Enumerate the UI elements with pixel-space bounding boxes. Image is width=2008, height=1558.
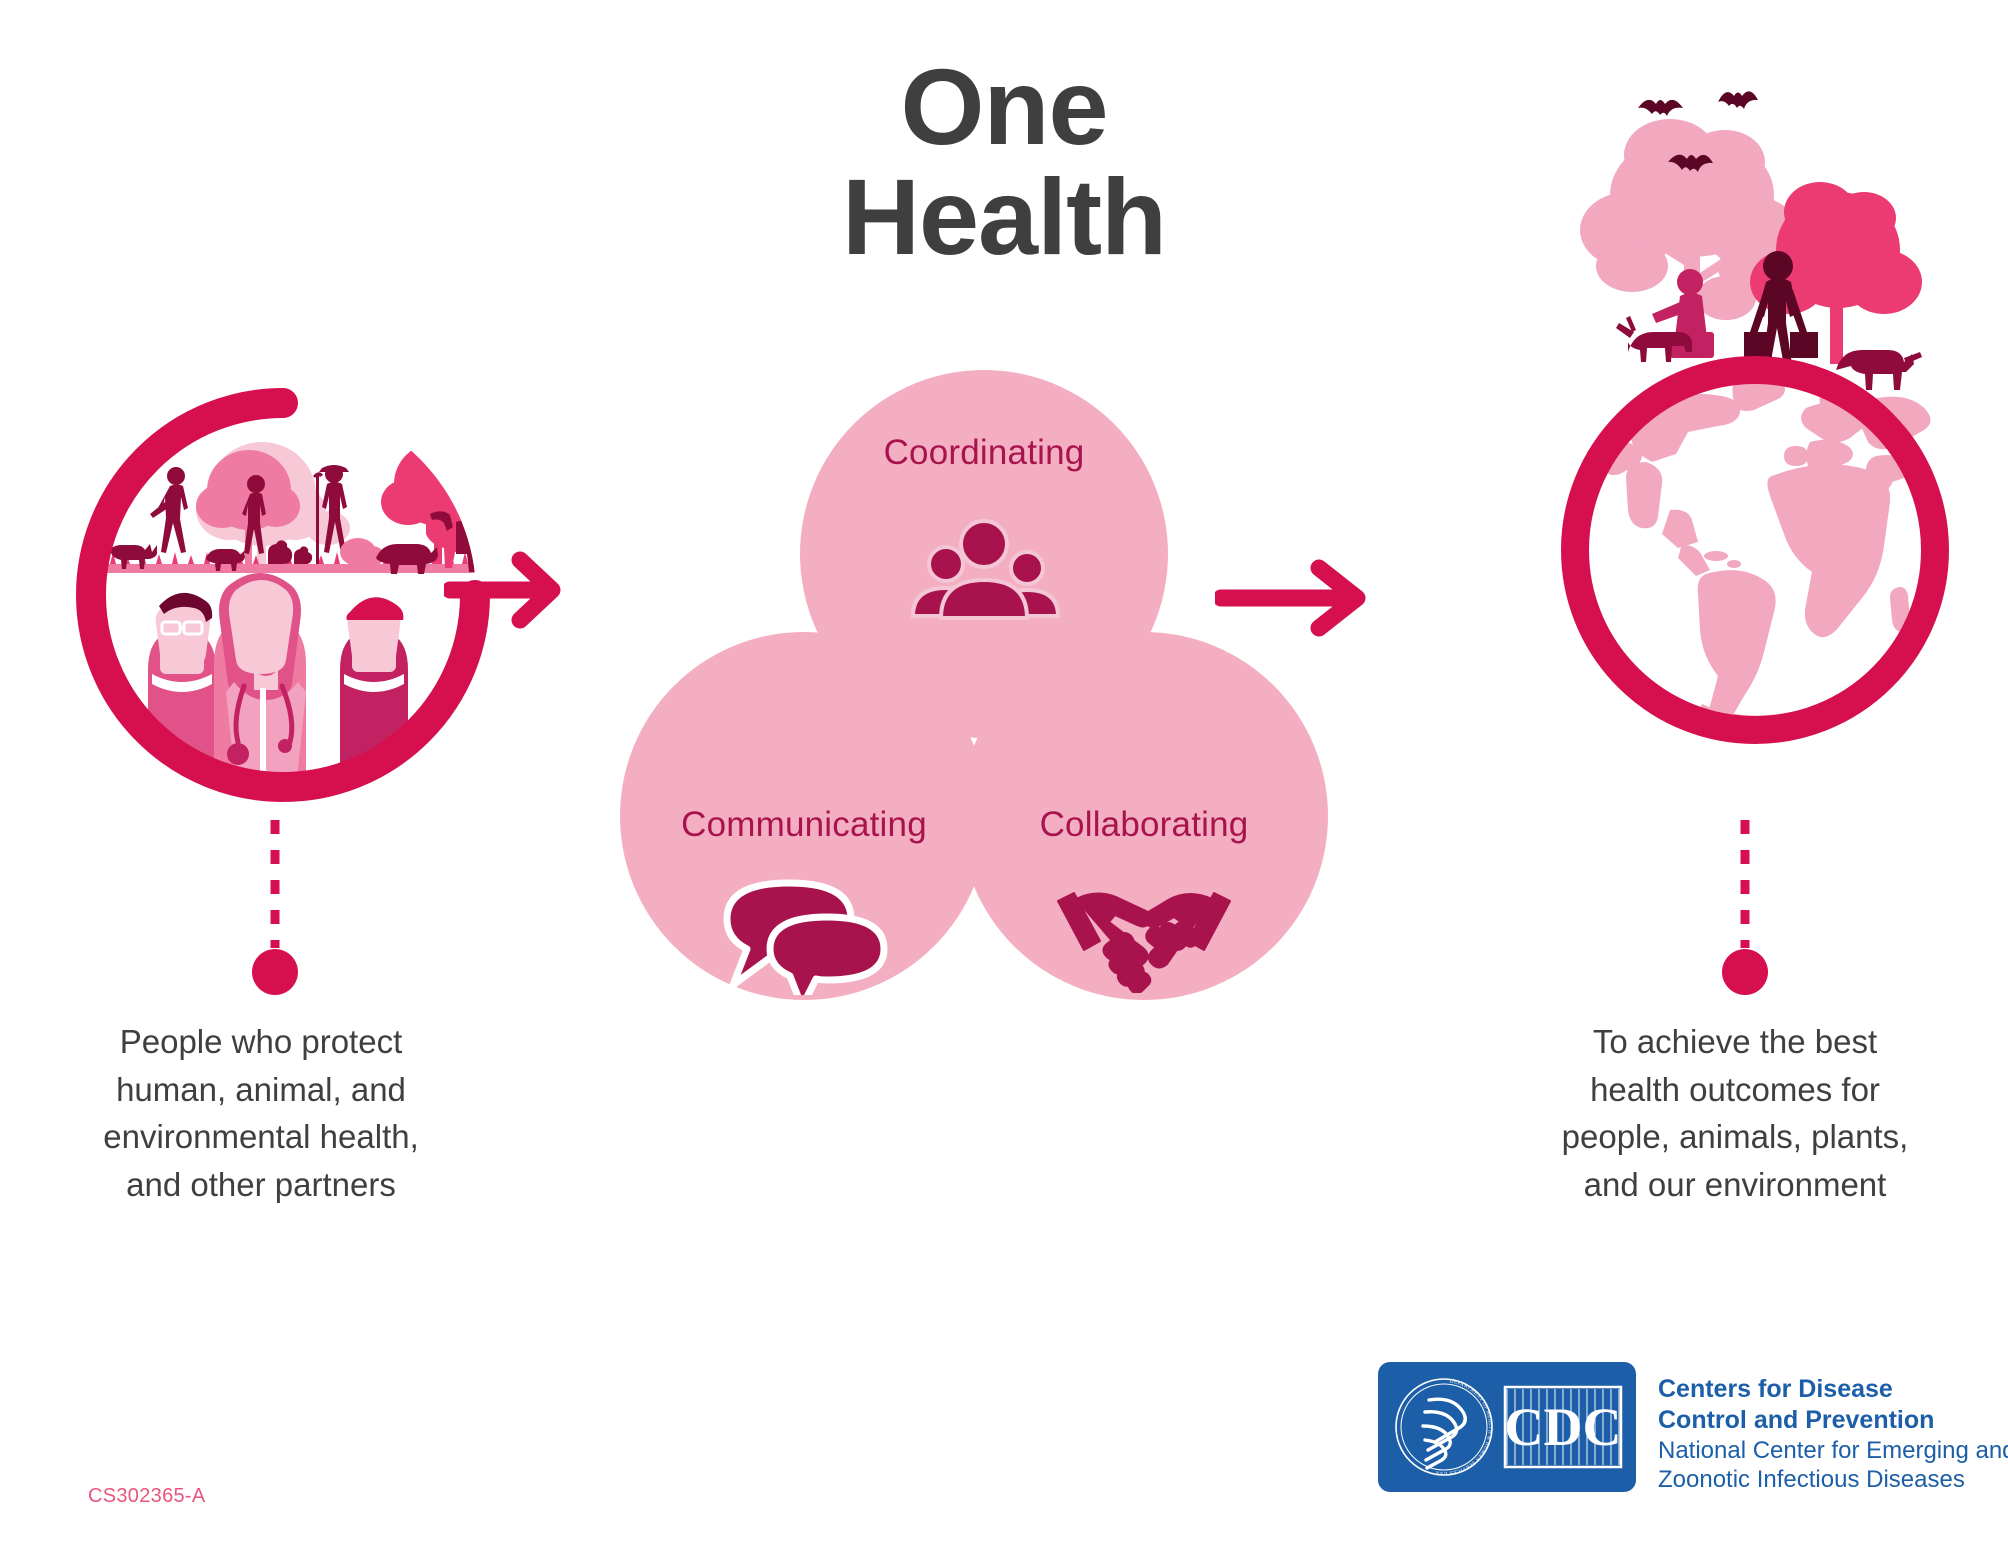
people-group-icon bbox=[800, 512, 1168, 622]
arrow-left-to-center bbox=[444, 540, 574, 640]
caption-right-line-4: and our environment bbox=[1520, 1161, 1950, 1209]
one-health-actions-venn: Coordinating Communicating bbox=[620, 370, 1180, 1050]
cdc-wordmark-icon: CDC bbox=[1503, 1385, 1623, 1469]
caption-left-line-2: human, animal, and bbox=[46, 1066, 476, 1114]
left-circle-ring bbox=[58, 370, 508, 820]
connector-dot bbox=[252, 949, 298, 995]
speech-bubbles-icon bbox=[620, 875, 988, 995]
venn-circle-communicating[interactable]: Communicating bbox=[620, 632, 988, 1000]
page-title: One Health bbox=[754, 52, 1254, 272]
ring-arc bbox=[91, 403, 475, 787]
infographic-canvas: One Health bbox=[0, 0, 2008, 1558]
connector-right bbox=[1716, 820, 1774, 1000]
venn-circle-collaborating[interactable]: Collaborating bbox=[960, 632, 1328, 1000]
cdc-agency-text: Centers for Disease Control and Preventi… bbox=[1658, 1362, 2008, 1495]
globe-top-scene bbox=[1580, 91, 1922, 390]
cdc-logo: DEPARTMENT OF HEALTH & HUMAN SERVICES US… bbox=[1378, 1362, 2008, 1495]
caption-right-line-1: To achieve the best bbox=[1520, 1018, 1950, 1066]
venn-label-coordinating: Coordinating bbox=[800, 433, 1168, 473]
connector-dot bbox=[1722, 949, 1768, 995]
venn-label-communicating: Communicating bbox=[620, 805, 988, 845]
caption-left: People who protect human, animal, and en… bbox=[46, 1018, 476, 1208]
connector-left bbox=[246, 820, 304, 1000]
arrow-center-to-right bbox=[1215, 548, 1380, 648]
best-health-outcomes-node bbox=[1520, 70, 1990, 810]
handshake-icon bbox=[960, 875, 1328, 993]
title-line-one: One bbox=[754, 52, 1254, 162]
cdc-line-2: Control and Prevention bbox=[1658, 1405, 2008, 1436]
globe-scene-svg bbox=[1520, 70, 1990, 810]
cdc-badge: DEPARTMENT OF HEALTH & HUMAN SERVICES US… bbox=[1378, 1362, 1636, 1492]
caption-left-line-1: People who protect bbox=[46, 1018, 476, 1066]
cdc-badge-text: CDC bbox=[1505, 1397, 1622, 1457]
caption-right-line-2: health outcomes for bbox=[1520, 1066, 1950, 1114]
caption-right: To achieve the best health outcomes for … bbox=[1520, 1018, 1950, 1208]
caption-right-line-3: people, animals, plants, bbox=[1520, 1113, 1950, 1161]
people-who-protect-node bbox=[58, 370, 508, 820]
cdc-line-4: Zoonotic Infectious Diseases bbox=[1658, 1465, 2008, 1495]
cs-publication-code: CS302365-A bbox=[88, 1485, 206, 1508]
venn-label-collaborating: Collaborating bbox=[960, 805, 1328, 845]
cdc-line-1: Centers for Disease bbox=[1658, 1374, 2008, 1405]
caption-left-line-4: and other partners bbox=[46, 1161, 476, 1209]
title-line-two: Health bbox=[754, 162, 1254, 272]
globe-group bbox=[1567, 362, 1943, 738]
svg-text:DEPARTMENT OF HEALTH & HUMAN S: DEPARTMENT OF HEALTH & HUMAN SERVICES US… bbox=[1435, 1378, 1493, 1476]
cdc-line-3: National Center for Emerging and bbox=[1658, 1436, 2008, 1466]
caption-left-line-3: environmental health, bbox=[46, 1113, 476, 1161]
hhs-seal-icon: DEPARTMENT OF HEALTH & HUMAN SERVICES US… bbox=[1391, 1374, 1497, 1480]
